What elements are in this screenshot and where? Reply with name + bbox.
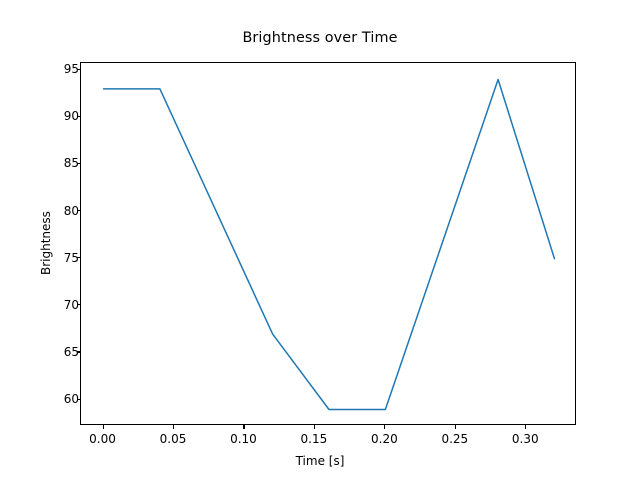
figure-canvas: Brightness over Time Brightness 0.000.05… (0, 0, 640, 480)
x-tick-mark (455, 425, 456, 429)
x-tick-label: 0.30 (485, 433, 565, 445)
x-tick-mark (243, 425, 244, 429)
y-tick-label: 80 (64, 205, 79, 217)
y-tick-label: 95 (64, 63, 79, 75)
x-tick-mark (384, 425, 385, 429)
y-axis-label: Brightness (40, 212, 52, 276)
x-tick-label: 0.00 (63, 433, 143, 445)
x-tick-label: 0.20 (344, 433, 424, 445)
y-tick-label: 90 (64, 110, 79, 122)
x-axis-label: Time [s] (0, 455, 640, 467)
page-title: Brightness over Time (0, 31, 640, 45)
plot-area (80, 62, 576, 425)
y-tick-label: 70 (64, 299, 79, 311)
x-tick-mark (314, 425, 315, 429)
x-tick-label: 0.05 (133, 433, 213, 445)
x-tick-label: 0.15 (274, 433, 354, 445)
y-tick-label: 75 (64, 252, 79, 264)
line-series-brightness (81, 63, 577, 426)
y-tick-label: 65 (64, 346, 79, 358)
y-tick-label: 60 (64, 393, 79, 405)
x-tick-mark (525, 425, 526, 429)
x-tick-label: 0.25 (415, 433, 495, 445)
x-tick-label: 0.10 (203, 433, 283, 445)
y-tick-label: 85 (64, 157, 79, 169)
x-tick-mark (173, 425, 174, 429)
x-tick-mark (103, 425, 104, 429)
